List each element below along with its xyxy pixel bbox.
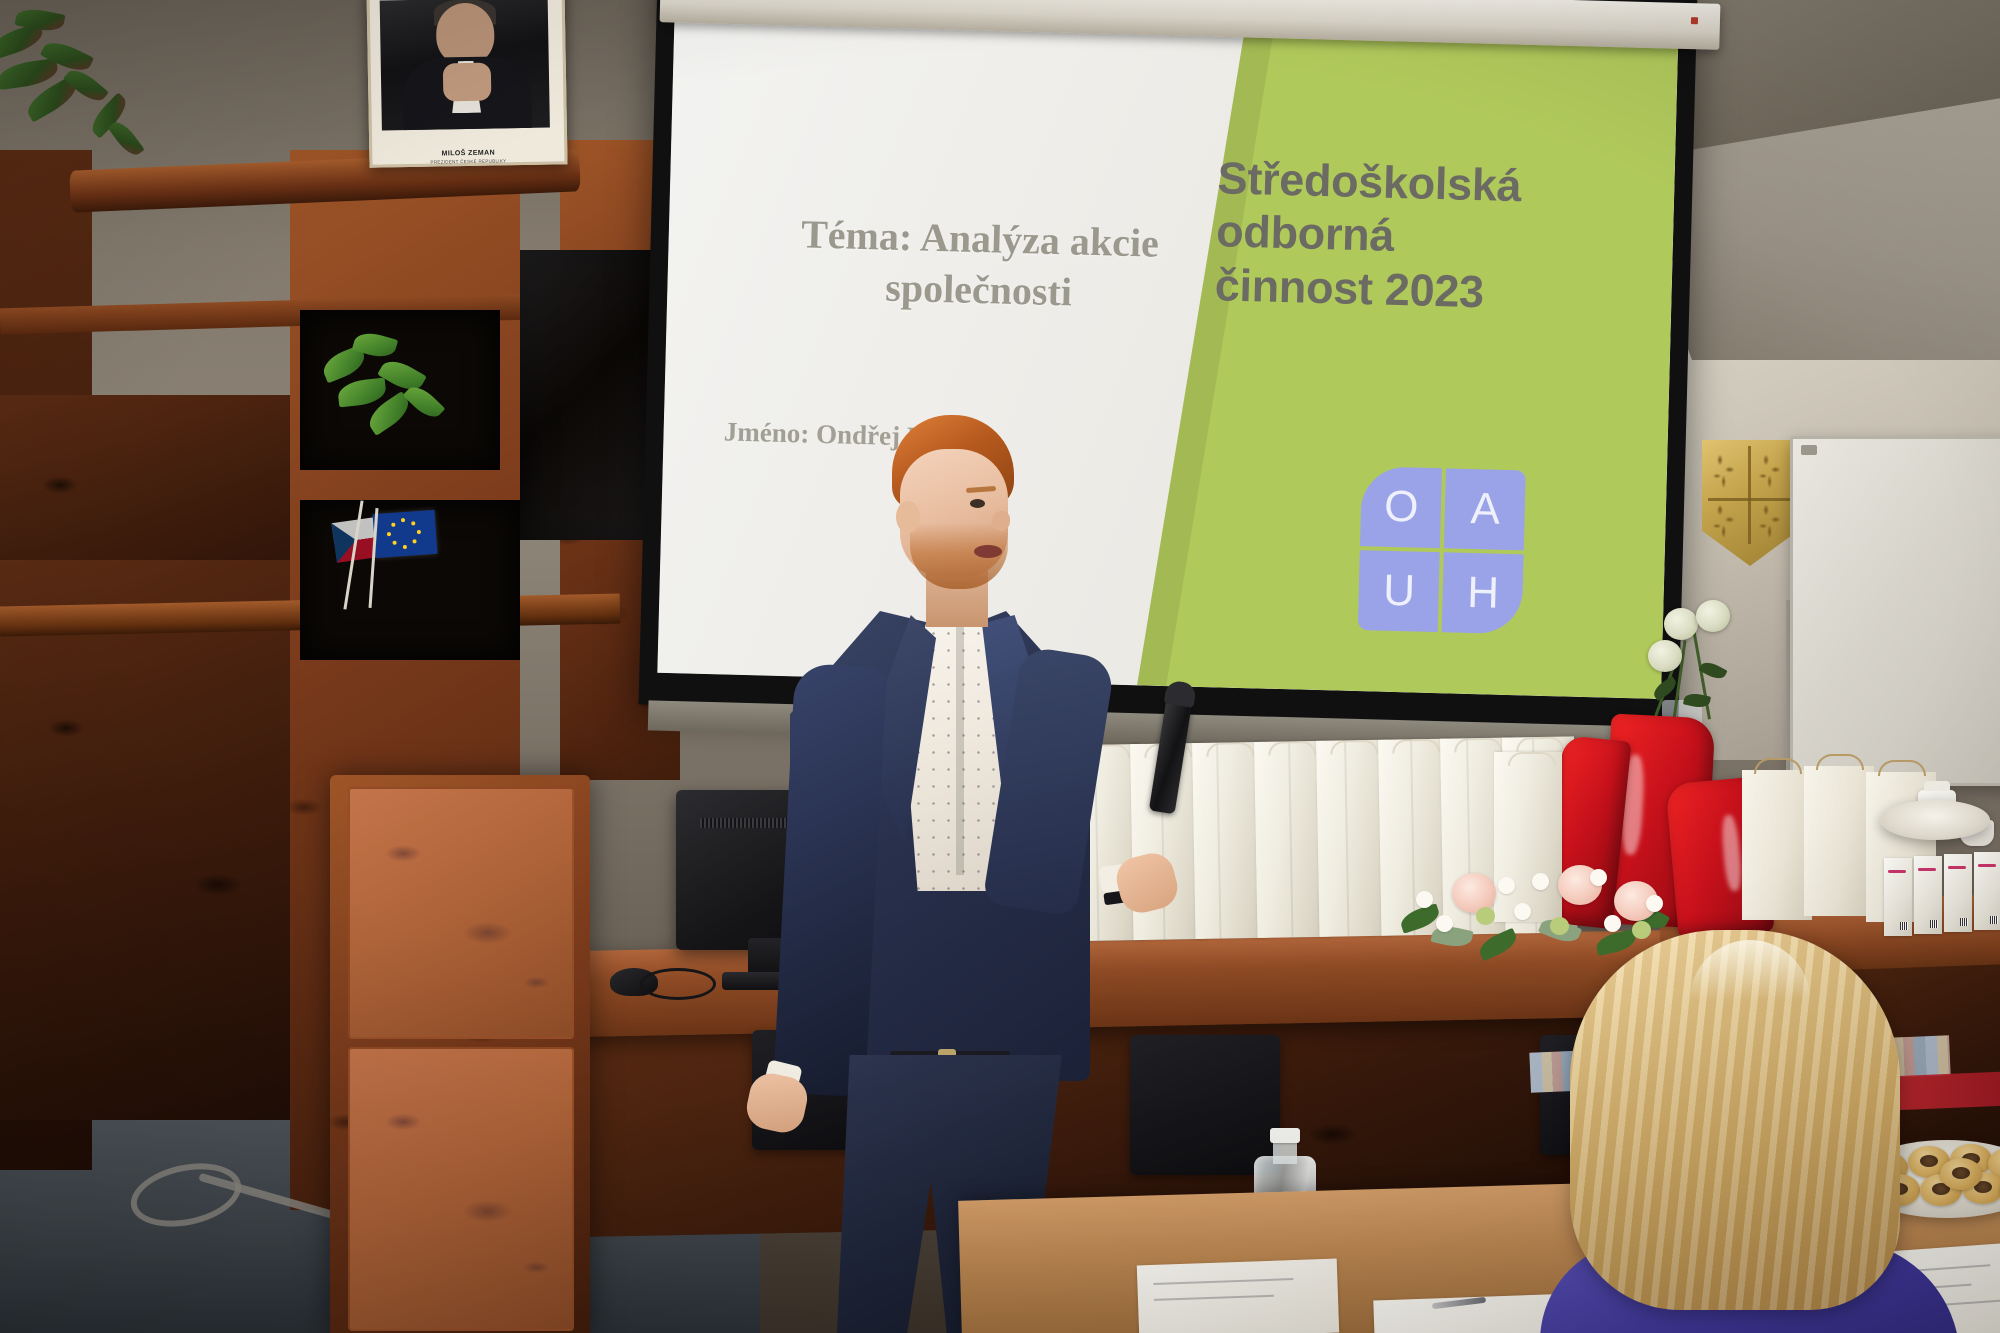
rose-2 <box>1696 600 1730 632</box>
podium-panel-bottom <box>348 1047 574 1331</box>
plant-top-left <box>0 10 190 170</box>
slide-heading-line3: činnost 2023 <box>1214 258 1617 322</box>
seated-audience-member <box>1540 930 1980 1333</box>
portrait-subcaption: PREZIDENT ČESKÉ REPUBLIKY <box>372 157 564 165</box>
oauh-logo: O A U H <box>1358 466 1526 634</box>
slide-topic: Téma: Analýza akcie společnosti <box>727 207 1232 322</box>
logo-cell-u: U <box>1358 550 1440 632</box>
photo-scene: MILOŠ ZEMAN PREZIDENT ČESKÉ REPUBLIKY <box>0 0 2000 1333</box>
woman-hair-part <box>1690 940 1810 1000</box>
slide-heading-line2: odborná <box>1216 205 1619 269</box>
rose-3 <box>1648 640 1682 672</box>
eu-flag-icon <box>373 510 438 558</box>
snack-plate-back <box>1880 800 1990 840</box>
presenter-ear <box>896 501 920 533</box>
plant-in-niche <box>318 330 488 460</box>
presenter-eye <box>970 499 985 508</box>
kraft-gift-bag <box>1742 770 1812 920</box>
product-box <box>1914 856 1942 934</box>
portrait-photo <box>380 0 550 130</box>
whiteboard-clip <box>1801 445 1817 455</box>
presenter-hand-right <box>1112 849 1182 917</box>
woman-hair <box>1570 930 1900 1310</box>
product-box <box>1884 858 1912 936</box>
paper-sheet <box>1137 1259 1339 1333</box>
slide-event-heading: Středoškolská odborná činnost 2023 <box>1214 152 1620 322</box>
presenter-mouth <box>974 545 1002 558</box>
bottle-cap <box>1270 1128 1300 1143</box>
wooden-podium <box>330 775 590 1333</box>
logo-cell-a: A <box>1444 468 1526 550</box>
product-box <box>1974 852 2000 930</box>
screen-indicator-dot <box>1691 17 1698 24</box>
product-box <box>1944 854 1972 932</box>
rose-1 <box>1664 608 1698 640</box>
cabinet-block-lower <box>0 560 330 1120</box>
presenter-nose <box>992 511 1010 531</box>
whiteboard <box>1790 436 2000 786</box>
kraft-gift-bag <box>1804 766 1874 916</box>
portrait-hands <box>443 63 492 102</box>
desk-cable <box>640 968 716 1000</box>
framed-portrait: MILOŠ ZEMAN PREZIDENT ČESKÉ REPUBLIKY <box>366 0 567 168</box>
podium-panel-top <box>348 787 574 1039</box>
presenter-shirt-placket <box>956 615 964 875</box>
